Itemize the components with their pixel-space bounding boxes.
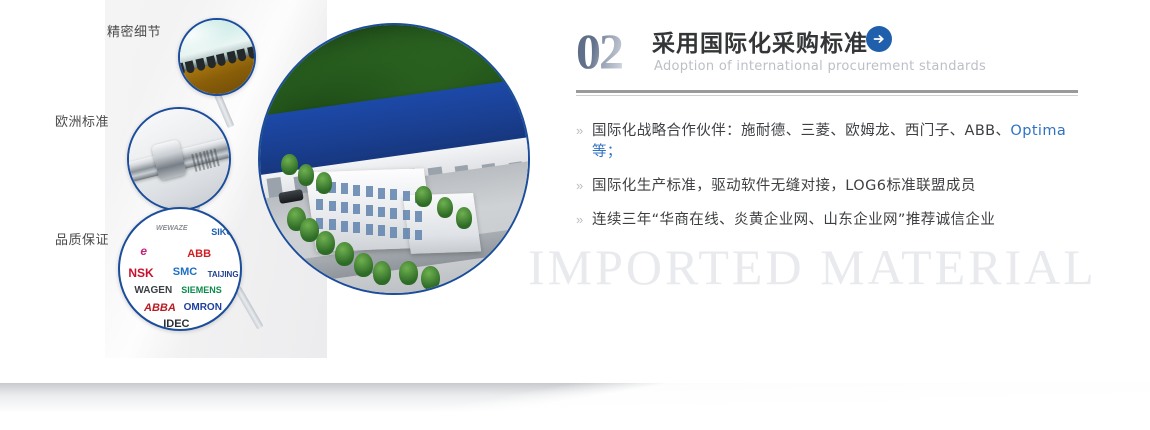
chevron-double-right-icon: » xyxy=(576,213,592,226)
side-label-precision: 精密细节 xyxy=(107,21,161,40)
ball-screw-photo xyxy=(127,107,231,211)
watermark-text: IMPORTED MATERIAL xyxy=(528,238,1097,296)
divider-thick xyxy=(576,90,1078,93)
chevron-double-right-icon: » xyxy=(576,124,592,137)
factory-aerial-photo xyxy=(258,23,530,295)
brand-logo: e xyxy=(140,245,147,257)
brand-logo: OMRON xyxy=(184,303,222,313)
page-title: 采用国际化采购标准 xyxy=(652,24,868,58)
page-subtitle: Adoption of international procurement st… xyxy=(654,59,986,74)
promo-banner: 精密细节 欧洲标准 品质保证 WEWAZESIKOeABBNSKSMCTAIJI… xyxy=(0,0,1150,430)
list-item-label: 连续三年“华商在线、炎黄企业网、山东企业网”推荐诚信企业 xyxy=(592,208,995,229)
side-label-european-standard: 欧洲标准 xyxy=(55,111,109,130)
brand-logo: ABB xyxy=(187,249,211,260)
brand-logo: ABBA xyxy=(144,303,176,314)
list-item: »国际化战略合作伙伴：施耐德、三菱、欧姆龙、西门子、ABB、Optima等； xyxy=(576,119,1081,161)
gear-macro-photo xyxy=(178,18,256,96)
brand-logo: TAIJING xyxy=(208,271,239,279)
brand-logo: WAGEN xyxy=(134,286,172,296)
list-item-text: 国际化战略合作伙伴：施耐德、三菱、欧姆龙、西门子、ABB、 xyxy=(592,123,1010,139)
brand-logo: NSK xyxy=(128,267,153,279)
list-item-label: 国际化战略合作伙伴：施耐德、三菱、欧姆龙、西门子、ABB、Optima等； xyxy=(592,119,1081,161)
arrow-right-icon[interactable] xyxy=(866,26,892,52)
section-number: 02 xyxy=(576,26,622,76)
divider-thin xyxy=(576,95,1078,96)
content-column: 02 采用国际化采购标准 Adoption of international p… xyxy=(576,22,1081,242)
bullet-list: »国际化战略合作伙伴：施耐德、三菱、欧姆龙、西门子、ABB、Optima等；»国… xyxy=(576,119,1081,229)
list-item-label: 国际化生产标准，驱动软件无缝对接，LOG6标准联盟成员 xyxy=(592,174,976,195)
brand-logo: WEWAZE xyxy=(156,225,188,232)
list-item: »国际化生产标准，驱动软件无缝对接，LOG6标准联盟成员 xyxy=(576,174,1081,195)
brand-logo: SIKO xyxy=(211,228,233,237)
brand-logo: IDEC xyxy=(163,319,189,330)
brand-logos-circle: WEWAZESIKOeABBNSKSMCTAIJINGWAGENSIEMENSA… xyxy=(118,207,242,331)
side-label-quality-assurance: 品质保证 xyxy=(55,229,109,248)
bottom-light-sweep xyxy=(0,372,1150,418)
brand-logo: SIEMENS xyxy=(181,286,222,295)
list-item: »连续三年“华商在线、炎黄企业网、山东企业网”推荐诚信企业 xyxy=(576,208,1081,229)
list-item-text: 国际化生产标准，驱动软件无缝对接，LOG6标准联盟成员 xyxy=(592,178,976,194)
section-header: 02 采用国际化采购标准 Adoption of international p… xyxy=(576,22,1081,88)
brand-logo: SMC xyxy=(173,267,197,278)
list-item-text: 连续三年“华商在线、炎黄企业网、山东企业网”推荐诚信企业 xyxy=(592,212,995,228)
chevron-double-right-icon: » xyxy=(576,179,592,192)
